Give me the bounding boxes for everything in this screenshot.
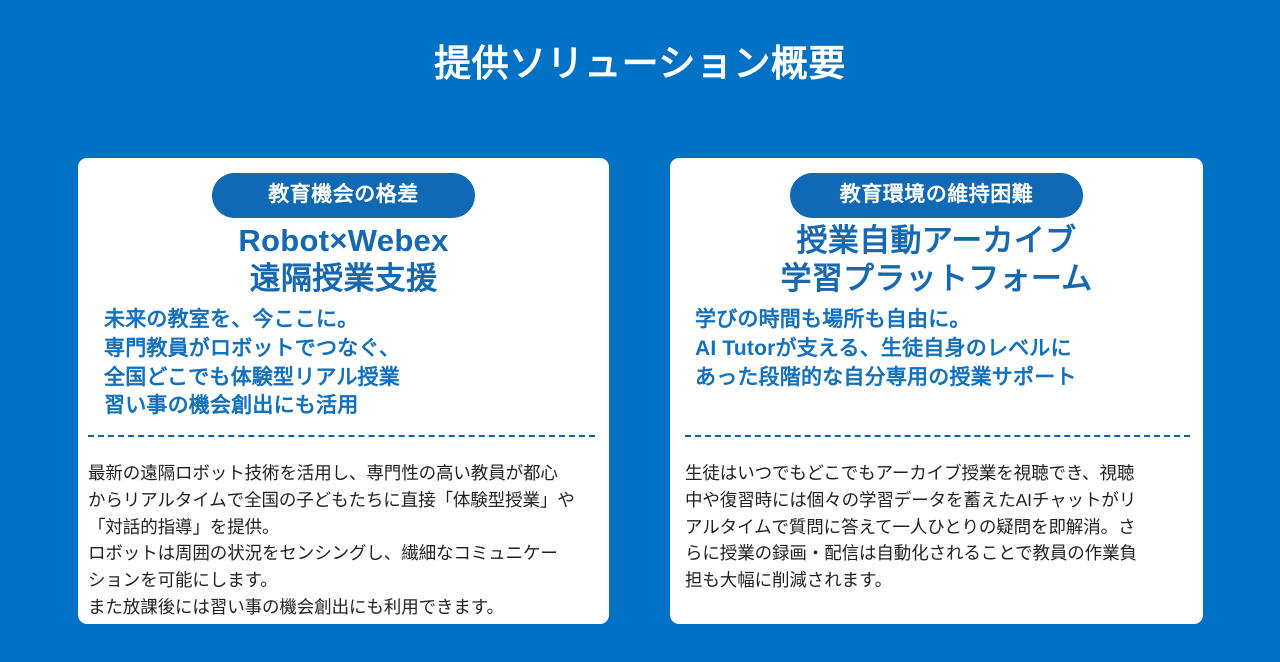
card-heading-line: Robot×Webex: [78, 222, 609, 260]
card-body-line: ロボットは周囲の状況をセンシングし、繊細なコミュニケー: [88, 540, 575, 567]
card-heading-left: Robot×Webex 遠隔授業支援: [78, 222, 609, 299]
card-heading-line: 授業自動アーカイブ: [670, 222, 1203, 260]
card-heading-line: 学習プラットフォーム: [670, 260, 1203, 298]
card-subtitle-line: AI Tutorが支える、生徒自身のレベルに: [695, 335, 1077, 364]
card-body-line: ションを可能にします。: [88, 567, 575, 594]
card-body-line: 担も大幅に削減されます。: [685, 567, 1137, 594]
card-content-right: 教育環境の維持困難 授業自動アーカイブ 学習プラットフォーム 学びの時間も場所も…: [670, 158, 1203, 624]
badge-row-right: 教育環境の維持困難: [670, 173, 1203, 218]
card-content-left: 教育機会の格差 Robot×Webex 遠隔授業支援 未来の教室を、今ここに。 …: [78, 158, 609, 624]
card-subtitle-line: あった段階的な自分専用の授業サポート: [695, 364, 1077, 393]
solution-card-left[interactable]: 教育機会の格差 Robot×Webex 遠隔授業支援 未来の教室を、今ここに。 …: [78, 158, 609, 624]
solution-card-right[interactable]: 教育環境の維持困難 授業自動アーカイブ 学習プラットフォーム 学びの時間も場所も…: [670, 158, 1203, 624]
card-body-line: アルタイムで質問に答えて一人ひとりの疑問を即解消。さ: [685, 514, 1137, 541]
status-badge: 教育機会の格差: [212, 173, 475, 218]
card-heading-line: 遠隔授業支援: [78, 260, 609, 298]
card-body-line: 生徒はいつでもどこでもアーカイブ授業を視聴でき、視聴: [685, 460, 1137, 487]
card-subtitle-line: 学びの時間も場所も自由に。: [695, 306, 1077, 335]
badge-row-left: 教育機会の格差: [78, 173, 609, 218]
card-subtitle-left: 未来の教室を、今ここに。 専門教員がロボットでつなぐ、 全国どこでも体験型リアル…: [104, 306, 400, 421]
card-subtitle-line: 全国どこでも体験型リアル授業: [104, 364, 400, 393]
card-heading-right: 授業自動アーカイブ 学習プラットフォーム: [670, 222, 1203, 299]
dashed-divider: [88, 435, 595, 437]
card-body-line: 中や復習時には個々の学習データを蓄えたAIチャットがリ: [685, 487, 1137, 514]
card-body-right: 生徒はいつでもどこでもアーカイブ授業を視聴でき、視聴 中や復習時には個々の学習デ…: [685, 460, 1137, 594]
page-title: 提供ソリューション概要: [0, 42, 1280, 86]
card-subtitle-line: 習い事の機会創出にも活用: [104, 392, 400, 421]
card-body-line: 「対話的指導」を提供。: [88, 514, 575, 541]
dashed-divider: [685, 435, 1190, 437]
card-body-line: らに授業の録画・配信は自動化されることで教員の作業負: [685, 540, 1137, 567]
card-body-left: 最新の遠隔ロボット技術を活用し、専門性の高い教員が都心 からリアルタイムで全国の…: [88, 460, 575, 621]
card-body-line: また放課後には習い事の機会創出にも利用できます。: [88, 594, 575, 621]
slide-root: 提供ソリューション概要 教育機会の格差 Robot×Webex 遠隔授業支援 未…: [0, 0, 1280, 662]
card-subtitle-right: 学びの時間も場所も自由に。 AI Tutorが支える、生徒自身のレベルに あった…: [695, 306, 1077, 392]
card-body-line: 最新の遠隔ロボット技術を活用し、専門性の高い教員が都心: [88, 460, 575, 487]
card-body-line: からリアルタイムで全国の子どもたちに直接「体験型授業」や: [88, 487, 575, 514]
status-badge: 教育環境の維持困難: [790, 173, 1084, 218]
card-subtitle-line: 専門教員がロボットでつなぐ、: [104, 335, 400, 364]
card-subtitle-line: 未来の教室を、今ここに。: [104, 306, 400, 335]
